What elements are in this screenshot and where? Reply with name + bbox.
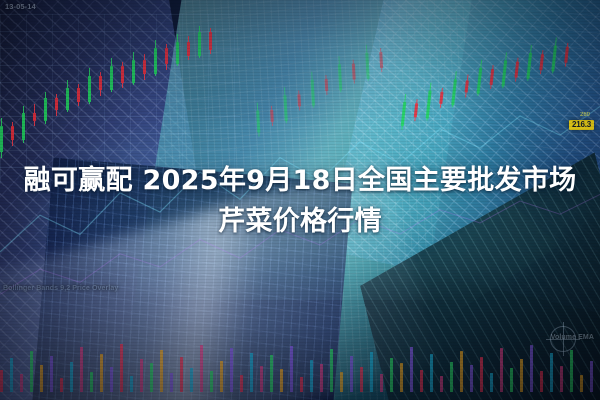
banner-image: 13-05-14 Bollinger Bands 9,2 Price Overl… (0, 0, 600, 400)
headline-title: 融可赢配 2025年9月18日全国主要批发市场芹菜价格行情 (0, 160, 600, 242)
